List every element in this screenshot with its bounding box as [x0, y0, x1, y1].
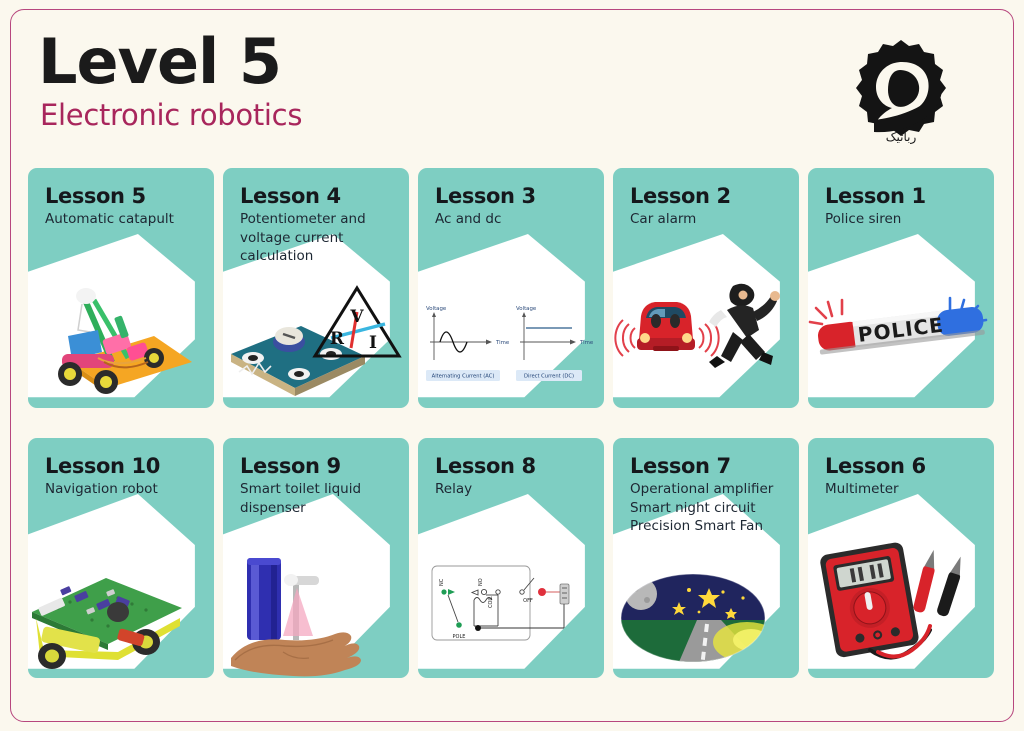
card-header: Lesson 5 Automatic catapult [28, 168, 214, 229]
lesson-title: Lesson 7 [630, 454, 789, 478]
lesson-title: Lesson 4 [240, 184, 399, 208]
lesson-card-6[interactable]: Lesson 6 Multimeter [808, 438, 994, 678]
lesson-subtitle-line: Smart night circuit [630, 500, 789, 518]
lesson-subtitle-line: Potentiometer and [240, 211, 399, 229]
poster-header: Level 5 Electronic robotics رباتیک [38, 30, 978, 148]
lesson-card-1[interactable]: Lesson 1 Police siren [808, 168, 994, 408]
lesson-subtitle-line: Navigation robot [45, 481, 204, 499]
lesson-title: Lesson 5 [45, 184, 204, 208]
lesson-subtitle-line: Relay [435, 481, 594, 499]
lesson-subtitle-line: voltage current [240, 230, 399, 248]
lesson-card-4[interactable]: Lesson 4 Potentiometer and voltage curre… [223, 168, 409, 408]
lesson-subtitle-line: Precision Smart Fan [630, 518, 789, 536]
lesson-subtitle: Police siren [825, 211, 984, 229]
card-header: Lesson 2 Car alarm [613, 168, 799, 229]
lesson-title: Lesson 3 [435, 184, 594, 208]
lesson-subtitle: Automatic catapult [45, 211, 204, 229]
card-header: Lesson 8 Relay [418, 438, 604, 499]
page-title: Level 5 [38, 30, 978, 94]
lesson-subtitle: Relay [435, 481, 594, 499]
lesson-card-10[interactable]: Lesson 10 Navigation robot [28, 438, 214, 678]
lesson-subtitle-line: Smart toilet liquid [240, 481, 399, 499]
logo-caption: رباتیک [846, 130, 956, 144]
card-panel-shape [418, 494, 592, 676]
poster-root: Level 5 Electronic robotics رباتیک Lesso… [0, 0, 1024, 731]
lesson-subtitle-line: Car alarm [630, 211, 789, 229]
card-panel-shape [28, 234, 202, 404]
lesson-card-5[interactable]: Lesson 5 Automatic catapult [28, 168, 214, 408]
card-header: Lesson 1 Police siren [808, 168, 994, 229]
lesson-subtitle: Ac and dc [435, 211, 594, 229]
card-panel-shape [418, 234, 592, 404]
lesson-card-2[interactable]: Lesson 2 Car alarm [613, 168, 799, 408]
lesson-subtitle-line: Ac and dc [435, 211, 594, 229]
card-header: Lesson 10 Navigation robot [28, 438, 214, 499]
lesson-title: Lesson 6 [825, 454, 984, 478]
card-panel-shape [28, 494, 202, 676]
card-header: Lesson 6 Multimeter [808, 438, 994, 499]
card-panel-shape [613, 234, 787, 404]
card-header: Lesson 4 Potentiometer and voltage curre… [223, 168, 409, 266]
card-panel-shape [808, 234, 982, 404]
lesson-subtitle: Car alarm [630, 211, 789, 229]
card-header: Lesson 9 Smart toilet liquid dispenser [223, 438, 409, 517]
lesson-title: Lesson 9 [240, 454, 399, 478]
lesson-card-9[interactable]: Lesson 9 Smart toilet liquid dispenser [223, 438, 409, 678]
lesson-title: Lesson 2 [630, 184, 789, 208]
lesson-subtitle-line: Operational amplifier [630, 481, 789, 499]
lesson-subtitle-line: Police siren [825, 211, 984, 229]
lesson-title: Lesson 8 [435, 454, 594, 478]
lesson-subtitle: Smart toilet liquid dispenser [240, 481, 399, 517]
lesson-subtitle-line: calculation [240, 248, 399, 266]
lesson-title: Lesson 10 [45, 454, 204, 478]
lesson-subtitle-line: Multimeter [825, 481, 984, 499]
gear-logo: رباتیک [846, 32, 956, 150]
card-panel-shape [808, 494, 982, 676]
lesson-card-3[interactable]: Lesson 3 Ac and dc Voltage Time [418, 168, 604, 408]
lesson-subtitle-line: dispenser [240, 500, 399, 518]
lesson-title: Lesson 1 [825, 184, 984, 208]
lesson-subtitle-line: Automatic catapult [45, 211, 204, 229]
lesson-subtitle: Potentiometer and voltage current calcul… [240, 211, 399, 266]
lesson-subtitle: Operational amplifier Smart night circui… [630, 481, 789, 536]
card-header: Lesson 7 Operational amplifier Smart nig… [613, 438, 799, 536]
lesson-card-8[interactable]: Lesson 8 Relay NC NO POLE [418, 438, 604, 678]
lesson-subtitle: Multimeter [825, 481, 984, 499]
lesson-card-7[interactable]: Lesson 7 Operational amplifier Smart nig… [613, 438, 799, 678]
card-panel-shape [223, 494, 397, 676]
card-header: Lesson 3 Ac and dc [418, 168, 604, 229]
lesson-grid: Lesson 5 Automatic catapult [28, 168, 996, 678]
lesson-subtitle: Navigation robot [45, 481, 204, 499]
page-subtitle: Electronic robotics [40, 98, 978, 132]
